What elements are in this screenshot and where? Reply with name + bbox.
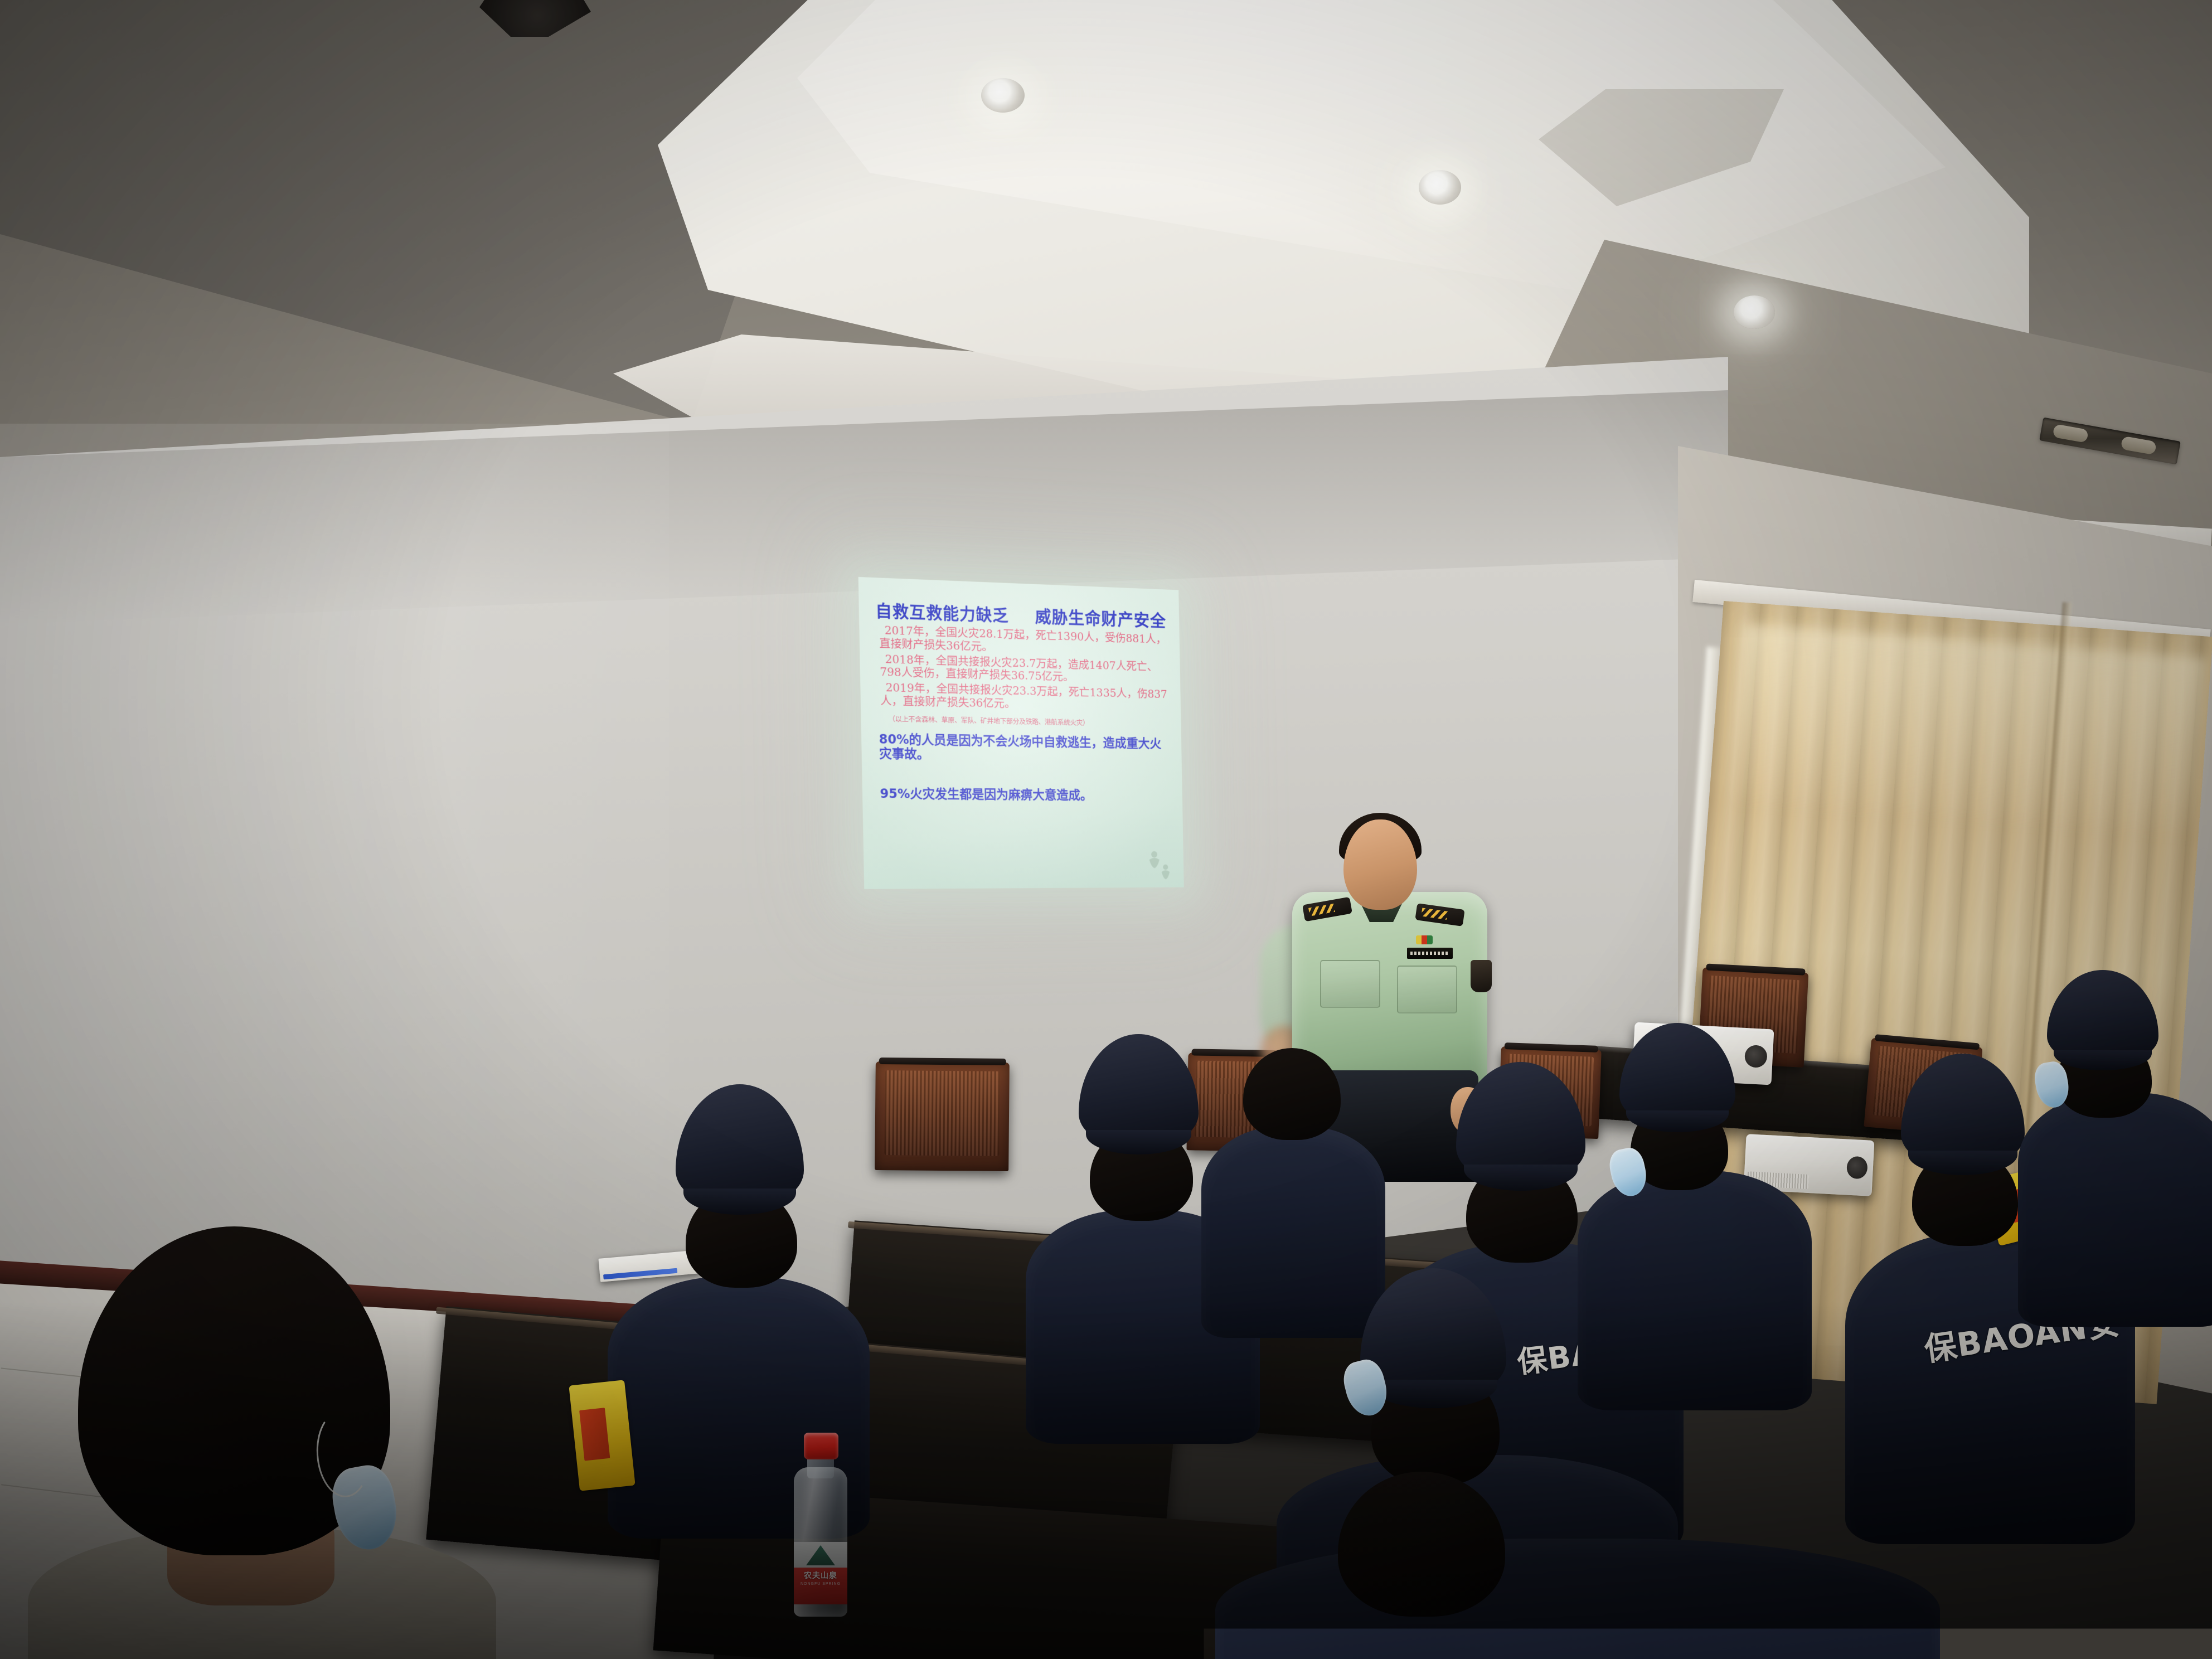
slide-title-left: 自救互救能力缺乏 bbox=[875, 597, 1009, 626]
curtain-daylight-glow bbox=[1731, 624, 2206, 842]
presenter-name-tag bbox=[1407, 948, 1453, 959]
bottle-cap bbox=[804, 1433, 838, 1459]
slide-highlight-line: 80%的人员是因为不会火场中自救逃生，造成重大火灾事故。 bbox=[879, 732, 1168, 765]
presenter-chest-pocket bbox=[1320, 960, 1380, 1008]
ceiling-downlight-icon bbox=[1734, 295, 1775, 329]
projector-lens-icon bbox=[1846, 1156, 1868, 1180]
slide-stat-line: 2019年，全国共接报火灾23.3万起，死亡1335人，伤837人，直接财产损失… bbox=[880, 681, 1168, 714]
wall-highlight bbox=[0, 424, 669, 1371]
slide-highlight-line: 95%火灾发生都是因为麻痹大意造成。 bbox=[880, 787, 1169, 803]
armband-marking bbox=[579, 1408, 610, 1461]
slide-watermark-icon bbox=[1144, 849, 1175, 882]
audience-torso bbox=[1215, 1539, 1940, 1659]
slide-title-right: 威胁生命财产安全 bbox=[1025, 602, 1166, 632]
ceiling-downlight-icon bbox=[981, 78, 1025, 113]
presenter-flag-badge-icon bbox=[1416, 935, 1433, 944]
bottle-brand-cn: 农夫山泉 bbox=[790, 1570, 851, 1581]
presenter-head bbox=[1343, 819, 1417, 910]
chair[interactable] bbox=[875, 1061, 1010, 1171]
ceiling-downlight-icon bbox=[1419, 170, 1461, 205]
projector-lens-icon bbox=[1744, 1045, 1768, 1068]
audience-torso bbox=[1201, 1126, 1385, 1338]
bottle-brand-en: NONGFU SPRING bbox=[790, 1582, 851, 1586]
audience-torso bbox=[2018, 1093, 2212, 1327]
presenter-chest-pocket bbox=[1397, 966, 1457, 1013]
chair-top-rail bbox=[879, 1058, 1006, 1065]
projected-slide: 自救互救能力缺乏 威胁生命财产安全 2017年，全国火灾28.1万起，死亡139… bbox=[858, 577, 1184, 889]
audience-torso bbox=[1578, 1171, 1812, 1410]
water-bottle[interactable]: 农夫山泉 NONGFU SPRING bbox=[790, 1433, 851, 1617]
audience-armband bbox=[569, 1380, 635, 1491]
slide-footnote: （以上不含森林、草原、军队、矿井地下部分及铁路、港航系统火灾） bbox=[889, 713, 1168, 729]
meeting-room-photo: 自救互救能力缺乏 威胁生命财产安全 2017年，全国火灾28.1万起，死亡139… bbox=[0, 0, 2212, 1659]
presenter-shoulder-patch bbox=[1471, 960, 1492, 992]
